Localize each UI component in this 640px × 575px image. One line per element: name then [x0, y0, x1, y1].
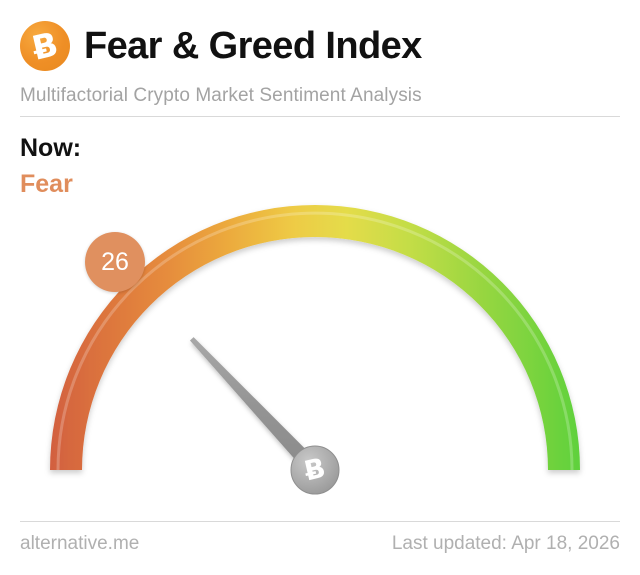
gauge-svg: Ƀ	[0, 170, 640, 500]
header-title-row: Ƀ Fear & Greed Index	[20, 18, 620, 74]
gauge: Ƀ 26	[0, 170, 640, 500]
bitcoin-glyph: Ƀ	[17, 24, 73, 67]
page-subtitle: Multifactorial Crypto Market Sentiment A…	[20, 86, 620, 105]
bitcoin-icon: Ƀ	[20, 21, 70, 71]
footer-divider	[20, 521, 620, 522]
header: Ƀ Fear & Greed Index Multifactorial Cryp…	[20, 18, 620, 105]
page-title: Fear & Greed Index	[84, 27, 422, 65]
fear-greed-index-widget: Ƀ Fear & Greed Index Multifactorial Cryp…	[0, 0, 640, 575]
footer: alternative.me Last updated: Apr 18, 202…	[20, 534, 620, 553]
header-divider	[20, 116, 620, 117]
gauge-value-badge: 26	[85, 232, 145, 292]
footer-updated: Last updated: Apr 18, 2026	[392, 534, 620, 553]
footer-source[interactable]: alternative.me	[20, 534, 139, 553]
gauge-needle-hub: Ƀ	[291, 446, 339, 494]
now-label: Now:	[20, 136, 81, 161]
gauge-value-text: 26	[101, 250, 129, 275]
